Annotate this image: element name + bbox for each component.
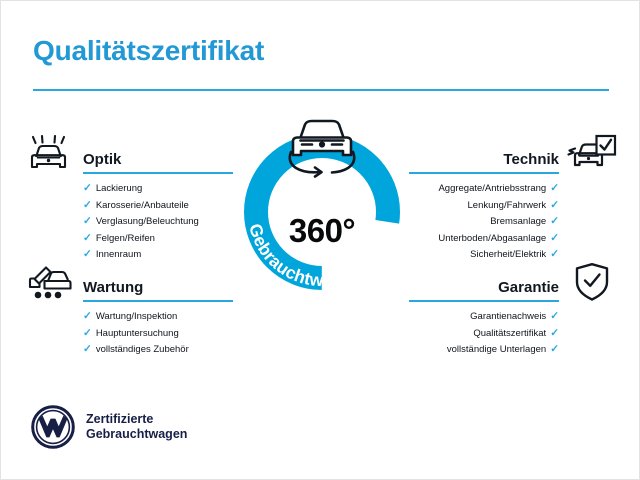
section-wartung-list: ✓Wartung/Inspektion ✓Hauptuntersuchung ✓… [83, 309, 233, 358]
vw-certified-footer: Zertifizierte Gebrauchtwagen [31, 405, 187, 449]
list-item-label: Garantienachweis [470, 311, 546, 322]
certificate-page: Qualitätszertifikat [0, 0, 640, 480]
list-item-label: vollständige Unterlagen [447, 344, 546, 355]
list-item-label: Qualitätszertifikat [473, 328, 546, 339]
car-shine-icon [26, 135, 72, 178]
vw-logo [31, 405, 75, 449]
section-wartung-head: Wartung [83, 271, 233, 297]
check-icon: ✓ [83, 182, 92, 194]
check-icon: ✓ [550, 182, 559, 194]
section-technik-divider [409, 172, 559, 174]
check-icon: ✓ [83, 199, 92, 211]
list-item-label: Unterboden/Abgasanlage [438, 233, 546, 244]
header-divider [33, 89, 609, 91]
section-optik-head: Optik [83, 143, 233, 169]
list-item-label: Lackierung [96, 183, 142, 194]
section-wartung: Wartung ✓Wartung/Inspektion ✓Hauptunters… [83, 271, 233, 358]
check-icon: ✓ [550, 199, 559, 211]
section-garantie-head: Garantie [409, 271, 559, 297]
list-item-label: Lenkung/Fahrwerk [468, 200, 547, 211]
check-icon: ✓ [550, 215, 559, 227]
check-icon: ✓ [83, 310, 92, 322]
shield-check-icon [574, 262, 610, 307]
vw-footer-line-2: Gebrauchtwagen [86, 427, 187, 443]
section-optik-list: ✓Lackierung ✓Karosserie/Anbauteile ✓Verg… [83, 181, 233, 263]
section-garantie-title: Garantie [498, 279, 559, 296]
section-technik-head: Technik [409, 143, 559, 169]
section-optik-divider [83, 172, 233, 174]
list-item: Bremsanlage✓ [409, 214, 559, 230]
section-technik-list: Aggregate/Antriebsstrang✓ Lenkung/Fahrwe… [409, 181, 559, 263]
list-item: ✓Karosserie/Anbauteile [83, 197, 233, 213]
check-icon: ✓ [550, 232, 559, 244]
list-item-label: Sicherheit/Elektrik [470, 249, 546, 260]
list-item-label: Bremsanlage [490, 216, 546, 227]
vw-footer-line-1: Zertifizierte [86, 412, 187, 428]
list-item-label: Wartung/Inspektion [96, 311, 178, 322]
car-wrench-icon [26, 263, 72, 306]
check-icon: ✓ [550, 327, 559, 339]
section-optik-title: Optik [83, 151, 121, 168]
section-technik-title: Technik [503, 151, 559, 168]
section-garantie-divider [409, 300, 559, 302]
list-item-label: Verglasung/Beleuchtung [96, 216, 199, 227]
list-item-label: Felgen/Reifen [96, 233, 155, 244]
list-item: ✓Wartung/Inspektion [83, 309, 233, 325]
car-rotate-icon [280, 110, 364, 185]
badge-360-gebrauchtwagen-check: Gebrauchtwagen-Check [226, 116, 418, 308]
car-checkbox-icon [567, 134, 617, 179]
list-item-label: vollständiges Zubehör [96, 344, 189, 355]
badge-center-label: 360° [226, 212, 418, 250]
list-item: ✓Innenraum [83, 247, 233, 263]
page-title: Qualitätszertifikat [33, 35, 264, 67]
section-wartung-title: Wartung [83, 279, 143, 296]
vw-footer-text: Zertifizierte Gebrauchtwagen [86, 412, 187, 443]
list-item-label: Karosserie/Anbauteile [96, 200, 189, 211]
check-icon: ✓ [83, 327, 92, 339]
list-item: Qualitätszertifikat✓ [409, 325, 559, 341]
list-item: ✓Verglasung/Beleuchtung [83, 214, 233, 230]
check-icon: ✓ [550, 248, 559, 260]
check-icon: ✓ [83, 248, 92, 260]
check-icon: ✓ [550, 310, 559, 322]
list-item: Garantienachweis✓ [409, 309, 559, 325]
section-optik: Optik ✓Lackierung ✓Karosserie/Anbauteile… [83, 143, 233, 263]
section-wartung-divider [83, 300, 233, 302]
list-item: Lenkung/Fahrwerk✓ [409, 197, 559, 213]
list-item: ✓Lackierung [83, 181, 233, 197]
section-technik: Technik Aggregate/Antriebsstrang✓ Lenkun… [409, 143, 559, 263]
list-item-label: Aggregate/Antriebsstrang [438, 183, 546, 194]
list-item: vollständige Unterlagen✓ [409, 342, 559, 358]
list-item-label: Innenraum [96, 249, 141, 260]
check-icon: ✓ [550, 343, 559, 355]
list-item: ✓vollständiges Zubehör [83, 342, 233, 358]
section-garantie: Garantie Garantienachweis✓ Qualitätszert… [409, 271, 559, 358]
list-item: ✓Hauptuntersuchung [83, 325, 233, 341]
check-icon: ✓ [83, 232, 92, 244]
list-item: ✓Felgen/Reifen [83, 230, 233, 246]
list-item: Sicherheit/Elektrik✓ [409, 247, 559, 263]
section-garantie-list: Garantienachweis✓ Qualitätszertifikat✓ v… [409, 309, 559, 358]
list-item-label: Hauptuntersuchung [96, 328, 179, 339]
check-icon: ✓ [83, 215, 92, 227]
list-item: Aggregate/Antriebsstrang✓ [409, 181, 559, 197]
list-item: Unterboden/Abgasanlage✓ [409, 230, 559, 246]
check-icon: ✓ [83, 343, 92, 355]
